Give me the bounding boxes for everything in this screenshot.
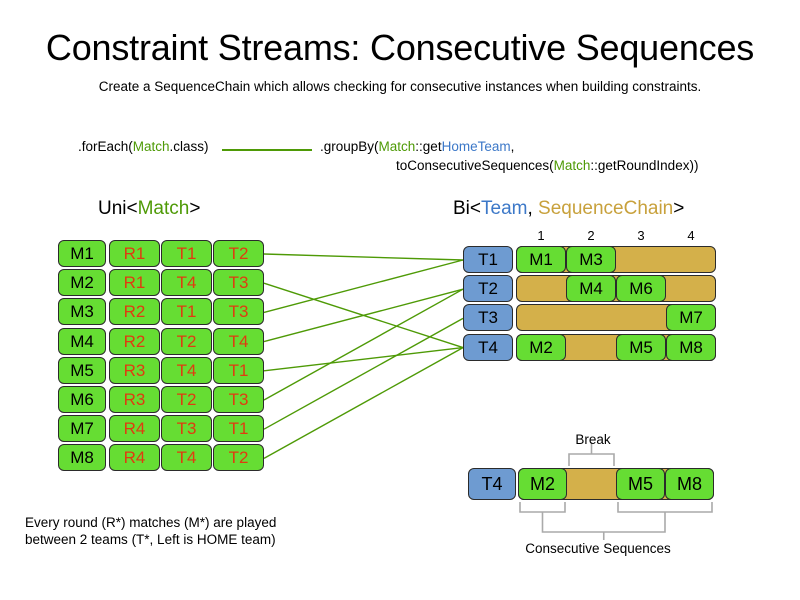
away-team-cell: T2	[213, 240, 264, 267]
sequence-slot-cell: M4	[566, 275, 616, 302]
match-table: M1R1T1T2M2R1T4T3M3R2T1T3M4R2T2T4M5R3T4T1…	[58, 240, 262, 472]
round-cell: R1	[109, 269, 160, 296]
sequence-slot-cell: M8	[666, 334, 716, 361]
code-connector-line	[222, 149, 312, 151]
code-groupby-method: HomeTeam	[442, 139, 511, 154]
consecutive-sequences-label: Consecutive Sequences	[478, 541, 718, 557]
column-index-label: 3	[631, 229, 651, 243]
away-team-cell: T4	[213, 328, 264, 355]
away-team-cell: T3	[213, 269, 264, 296]
team-cell: T2	[463, 275, 513, 302]
away-team-cell: T3	[213, 386, 264, 413]
column-index-label: 1	[531, 229, 551, 243]
page-subtitle: Create a SequenceChain which allows chec…	[0, 78, 800, 96]
break-team-cell: T4	[468, 468, 516, 500]
away-team-cell: T2	[213, 444, 264, 471]
code-groupby-prefix: .groupBy(	[320, 139, 379, 154]
section-heading-uni: Uni<Match>	[98, 198, 200, 220]
break-label: Break	[538, 432, 648, 448]
match-cell: M6	[58, 386, 106, 413]
match-cell: M5	[58, 357, 106, 384]
sequence-slot-cell: M7	[666, 304, 716, 331]
code-groupby-sep: ::get	[415, 139, 441, 154]
away-team-cell: T3	[213, 298, 264, 325]
match-cell: M7	[58, 415, 106, 442]
code-toconsecutive-type: Match	[554, 158, 591, 173]
break-diagram: T4M2M5M8	[468, 468, 716, 500]
sequence-chain-table: T1M1M3T2M4M6T3M7T4M2M5M8	[463, 246, 717, 364]
home-team-cell: T2	[161, 328, 212, 355]
code-foreach-suffix: .class)	[170, 139, 209, 154]
team-cell: T1	[463, 246, 513, 273]
uni-type: Match	[138, 198, 190, 219]
code-foreach: .forEach(Match.class)	[78, 137, 209, 156]
home-team-cell: T4	[161, 357, 212, 384]
home-team-cell: T3	[161, 415, 212, 442]
bi-suffix: >	[673, 198, 684, 219]
match-cell: M1	[58, 240, 106, 267]
round-cell: R2	[109, 328, 160, 355]
break-slot-cell: M5	[616, 468, 665, 500]
section-heading-bi: Bi<Team, SequenceChain>	[453, 198, 684, 220]
sequence-slot-cell: M3	[566, 246, 616, 273]
code-foreach-prefix: .forEach(	[78, 139, 133, 154]
code-foreach-type: Match	[133, 139, 170, 154]
home-team-cell: T1	[161, 298, 212, 325]
break-slot-cell: M2	[518, 468, 567, 500]
column-index-label: 2	[581, 229, 601, 243]
code-groupby-comma: ,	[511, 139, 515, 154]
away-team-cell: T1	[213, 357, 264, 384]
match-cell: M8	[58, 444, 106, 471]
break-slot-cell: M8	[665, 468, 714, 500]
code-toconsecutive-prefix: toConsecutiveSequences(	[396, 158, 554, 173]
match-cell: M2	[58, 269, 106, 296]
code-groupby-type: Match	[379, 139, 416, 154]
sequence-slot-cell: M6	[616, 275, 666, 302]
footnote-text: Every round (R*) matches (M*) are played…	[25, 514, 276, 548]
round-cell: R1	[109, 240, 160, 267]
round-cell: R4	[109, 415, 160, 442]
page-title: Constraint Streams: Consecutive Sequence…	[0, 26, 800, 70]
uni-prefix: Uni<	[98, 198, 138, 219]
round-cell: R4	[109, 444, 160, 471]
home-team-cell: T4	[161, 269, 212, 296]
sequence-slot-cell: M1	[516, 246, 566, 273]
home-team-cell: T1	[161, 240, 212, 267]
column-index-label: 4	[681, 229, 701, 243]
round-cell: R3	[109, 357, 160, 384]
away-team-cell: T1	[213, 415, 264, 442]
bi-prefix: Bi<	[453, 198, 481, 219]
bi-comma: ,	[527, 198, 538, 219]
slide-canvas: Constraint Streams: Consecutive Sequence…	[0, 0, 800, 600]
home-team-cell: T2	[161, 386, 212, 413]
uni-suffix: >	[189, 198, 200, 219]
round-cell: R2	[109, 298, 160, 325]
code-toconsecutive-suffix: ::getRoundIndex))	[590, 158, 698, 173]
match-cell: M3	[58, 298, 106, 325]
sequence-slot-cell: M2	[516, 334, 566, 361]
round-cell: R3	[109, 386, 160, 413]
team-cell: T4	[463, 334, 513, 361]
team-cell: T3	[463, 304, 513, 331]
code-groupby: .groupBy(Match::getHomeTeam,toConsecutiv…	[320, 137, 698, 175]
sequence-slot-cell: M5	[616, 334, 666, 361]
home-team-cell: T4	[161, 444, 212, 471]
bi-type2: SequenceChain	[538, 198, 673, 219]
match-cell: M4	[58, 328, 106, 355]
bi-type1: Team	[481, 198, 527, 219]
code-toconsecutive-line: toConsecutiveSequences(Match::getRoundIn…	[320, 156, 698, 175]
